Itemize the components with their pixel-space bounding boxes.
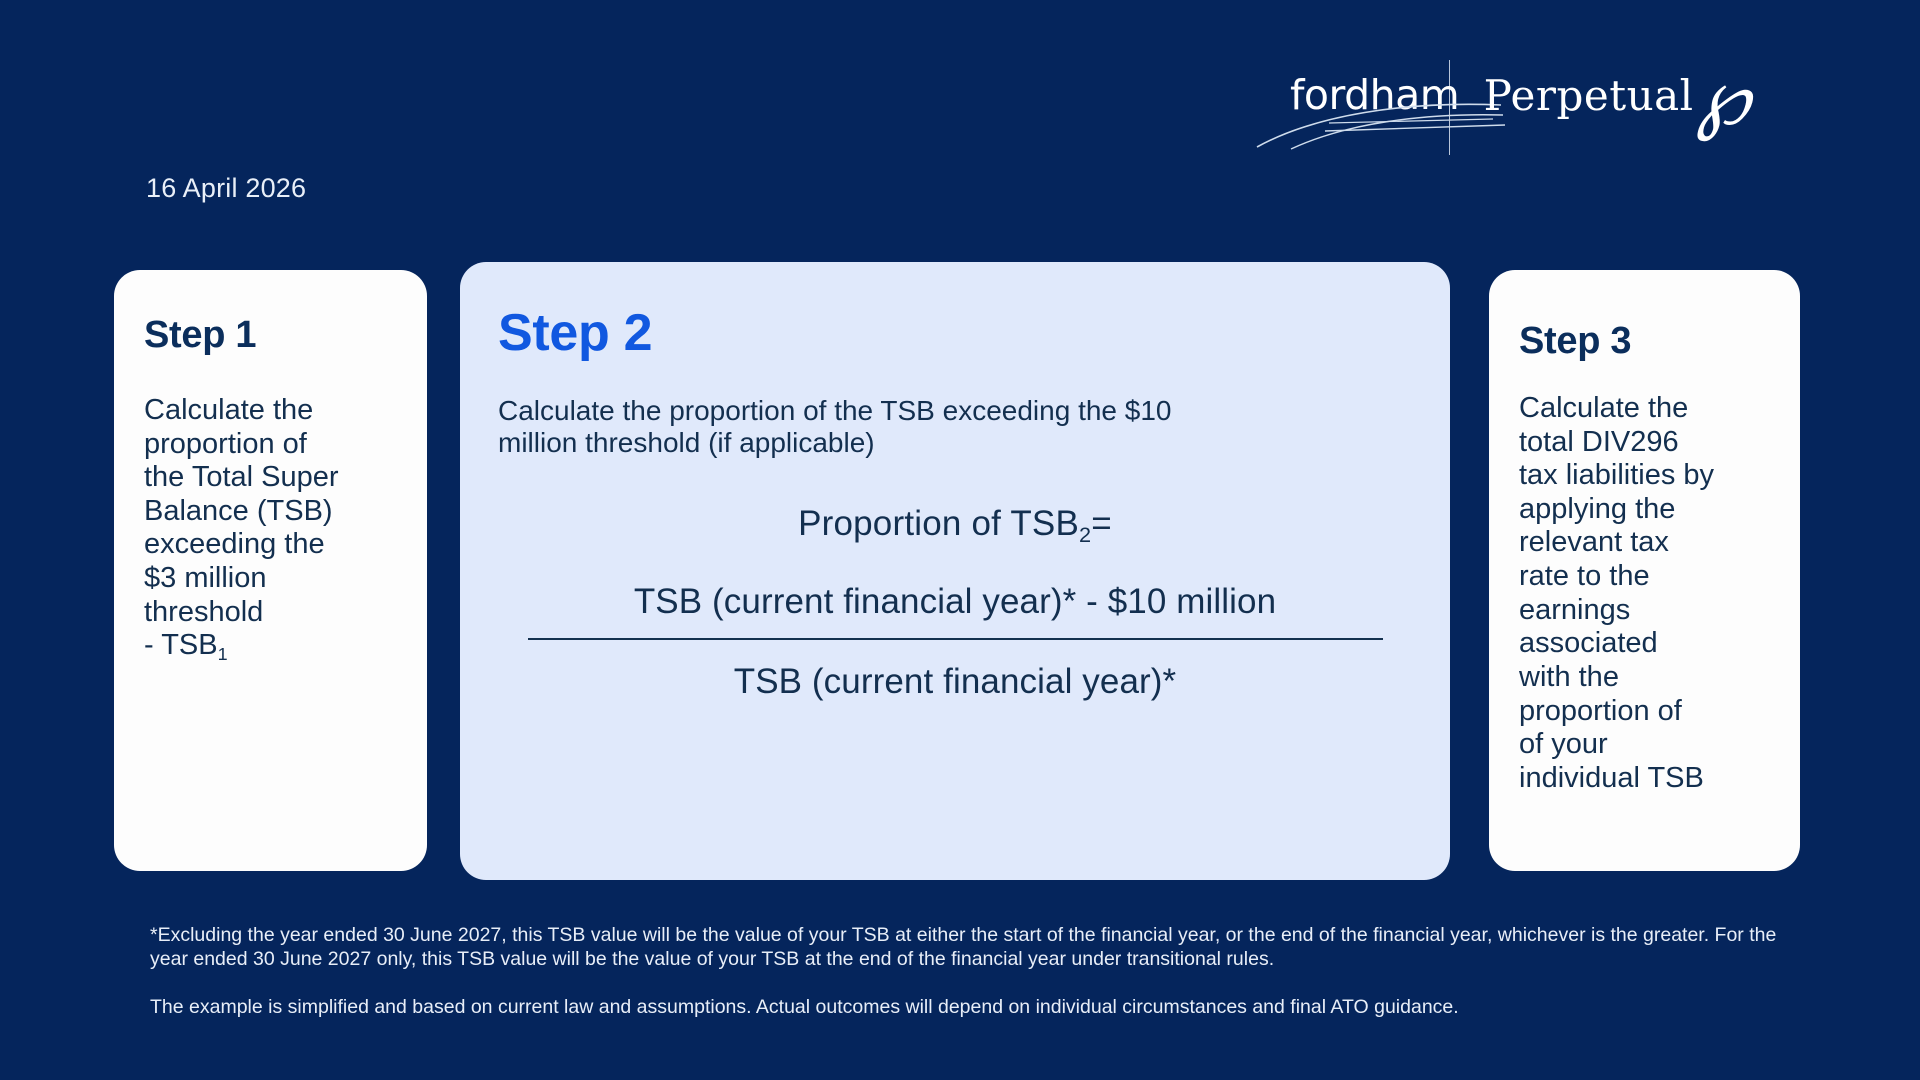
step-3-line: individual TSB — [1519, 762, 1704, 794]
step-1-body: Calculate the proportion of the Total Su… — [144, 394, 397, 663]
step-3-line: relevant tax — [1519, 526, 1669, 558]
fordham-swoosh-icon — [1255, 91, 1505, 151]
step-1-line: the Total Super — [144, 461, 339, 493]
card-step-3: Step 3 Calculate the total DIV296 tax li… — [1489, 270, 1800, 871]
step-2-line: million threshold (if applicable) — [498, 427, 875, 458]
perpetual-script-p-icon: ℘ — [1696, 67, 1750, 129]
formula-lead-subscript: 2 — [1079, 522, 1091, 547]
step-1-line: exceeding the — [144, 528, 325, 560]
slide-date: 16 April 2026 — [146, 173, 306, 204]
perpetual-logo: Perpetual ℘ — [1484, 61, 1750, 153]
card-step-1: Step 1 Calculate the proportion of the T… — [114, 270, 427, 871]
step-1-tsb-subscript: 1 — [218, 644, 228, 664]
formula-fraction: TSB (current financial year)* - $10 mill… — [528, 582, 1383, 702]
steps-container: Step 1 Calculate the proportion of the T… — [114, 262, 1814, 880]
formula-numerator: TSB (current financial year)* - $10 mill… — [528, 582, 1383, 638]
step-2-line: Calculate the proportion of the TSB exce… — [498, 395, 1172, 426]
card-step-2: Step 2 Calculate the proportion of the T… — [460, 262, 1450, 880]
step-1-title: Step 1 — [144, 316, 397, 356]
brand-logo-lockup: fordham Perpetual ℘ — [1290, 52, 1750, 162]
formula-lead-suffix: = — [1091, 504, 1112, 543]
step-1-tsb-label: - TSB — [144, 629, 218, 661]
perpetual-wordmark: Perpetual — [1484, 61, 1694, 117]
step-3-line: applying the — [1519, 493, 1675, 525]
formula-denominator: TSB (current financial year)* — [528, 640, 1383, 702]
step-2-body: Calculate the proportion of the TSB exce… — [498, 395, 1412, 461]
step-1-line: $3 million — [144, 562, 267, 594]
step-3-title: Step 3 — [1519, 322, 1770, 362]
step-1-line: Calculate the — [144, 394, 313, 426]
step-3-line: of your — [1519, 728, 1608, 760]
step-3-line: rate to the — [1519, 560, 1650, 592]
step-3-line: with the — [1519, 661, 1619, 693]
step-3-line: earnings — [1519, 594, 1630, 626]
footnote-disclaimer: The example is simplified and based on c… — [150, 996, 1790, 1020]
step-2-formula: Proportion of TSB2= TSB (current financi… — [498, 504, 1412, 702]
step-2-title: Step 2 — [498, 306, 1412, 361]
formula-lead-prefix: Proportion of TSB — [798, 504, 1079, 543]
footnote-asterisk-note: *Excluding the year ended 30 June 2027, … — [150, 924, 1790, 972]
step-1-line: proportion of — [144, 428, 307, 460]
formula-lead: Proportion of TSB2= — [498, 504, 1412, 544]
step-1-line: threshold — [144, 596, 263, 628]
step-1-line: Balance (TSB) — [144, 495, 333, 527]
step-3-line: tax liabilities by — [1519, 459, 1714, 491]
fordham-logo: fordham — [1290, 61, 1419, 153]
step-3-line: proportion of — [1519, 695, 1682, 727]
slide-canvas: fordham Perpetual ℘ 16 April 2026 Step 1… — [0, 0, 1920, 1080]
footnotes: *Excluding the year ended 30 June 2027, … — [150, 924, 1790, 1019]
step-3-line: total DIV296 — [1519, 426, 1679, 458]
step-3-line: associated — [1519, 627, 1658, 659]
step-3-body: Calculate the total DIV296 tax liabiliti… — [1519, 392, 1770, 796]
step-3-line: Calculate the — [1519, 392, 1688, 424]
